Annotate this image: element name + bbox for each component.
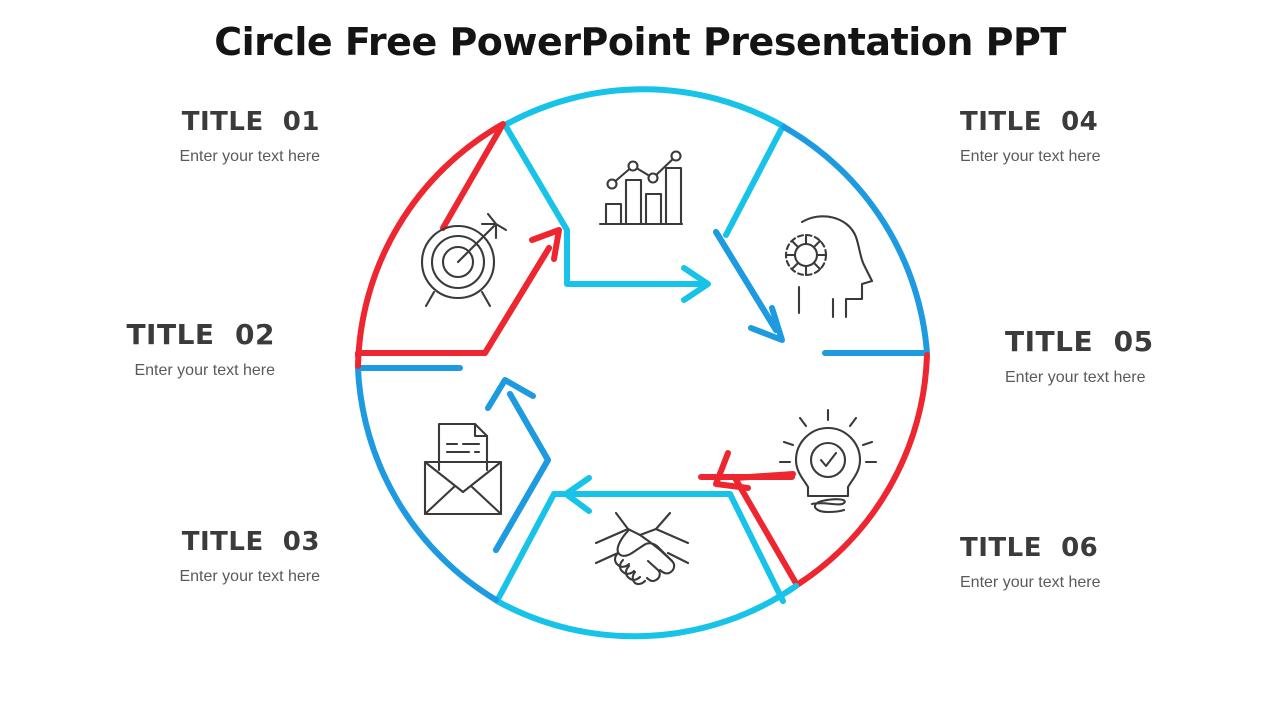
head-gear-icon [786,216,872,317]
arrow-shaft-down-right [716,232,776,330]
lightbulb-check-icon [780,410,876,512]
envelope-letter-icon [425,424,501,514]
label-block-04[interactable]: TITLE 04 Enter your text here [960,108,1260,166]
handshake-icon [596,513,688,584]
segment-upper-right[interactable] [716,127,927,353]
slide-canvas: Circle Free PowerPoint Presentation PPT … [0,0,1280,720]
label-sub-02: Enter your text here [0,361,275,380]
label-title-01: TITLE 01 [20,108,320,137]
segment-bottom-outline [497,494,796,636]
segment-upper-right-outline [716,127,927,353]
label-title-06: TITLE 06 [960,534,1260,563]
bar-chart-growth-icon [600,152,682,225]
label-title-02: TITLE 02 [0,320,275,351]
label-sub-03: Enter your text here [20,567,320,586]
circular-process-diagram [320,50,960,670]
segment-upper-left-outline [358,124,549,366]
label-block-06[interactable]: TITLE 06 Enter your text here [960,534,1260,592]
label-block-02[interactable]: TITLE 02 Enter your text here [0,320,275,380]
arrow-head-down-left [716,453,748,488]
label-title-05: TITLE 05 [1005,327,1280,358]
label-title-03: TITLE 03 [20,528,320,557]
arrow-shaft-up [496,394,548,550]
label-block-03[interactable]: TITLE 03 Enter your text here [20,528,320,586]
label-sub-05: Enter your text here [1005,368,1280,387]
label-title-04: TITLE 04 [960,108,1260,137]
label-sub-06: Enter your text here [960,573,1260,592]
label-block-05[interactable]: TITLE 05 Enter your text here [1005,327,1280,387]
label-sub-04: Enter your text here [960,147,1260,166]
label-block-01[interactable]: TITLE 01 Enter your text here [20,108,320,166]
arrow-shaft-down-left [735,474,793,478]
target-arrow-icon [422,214,506,306]
label-sub-01: Enter your text here [20,147,320,166]
